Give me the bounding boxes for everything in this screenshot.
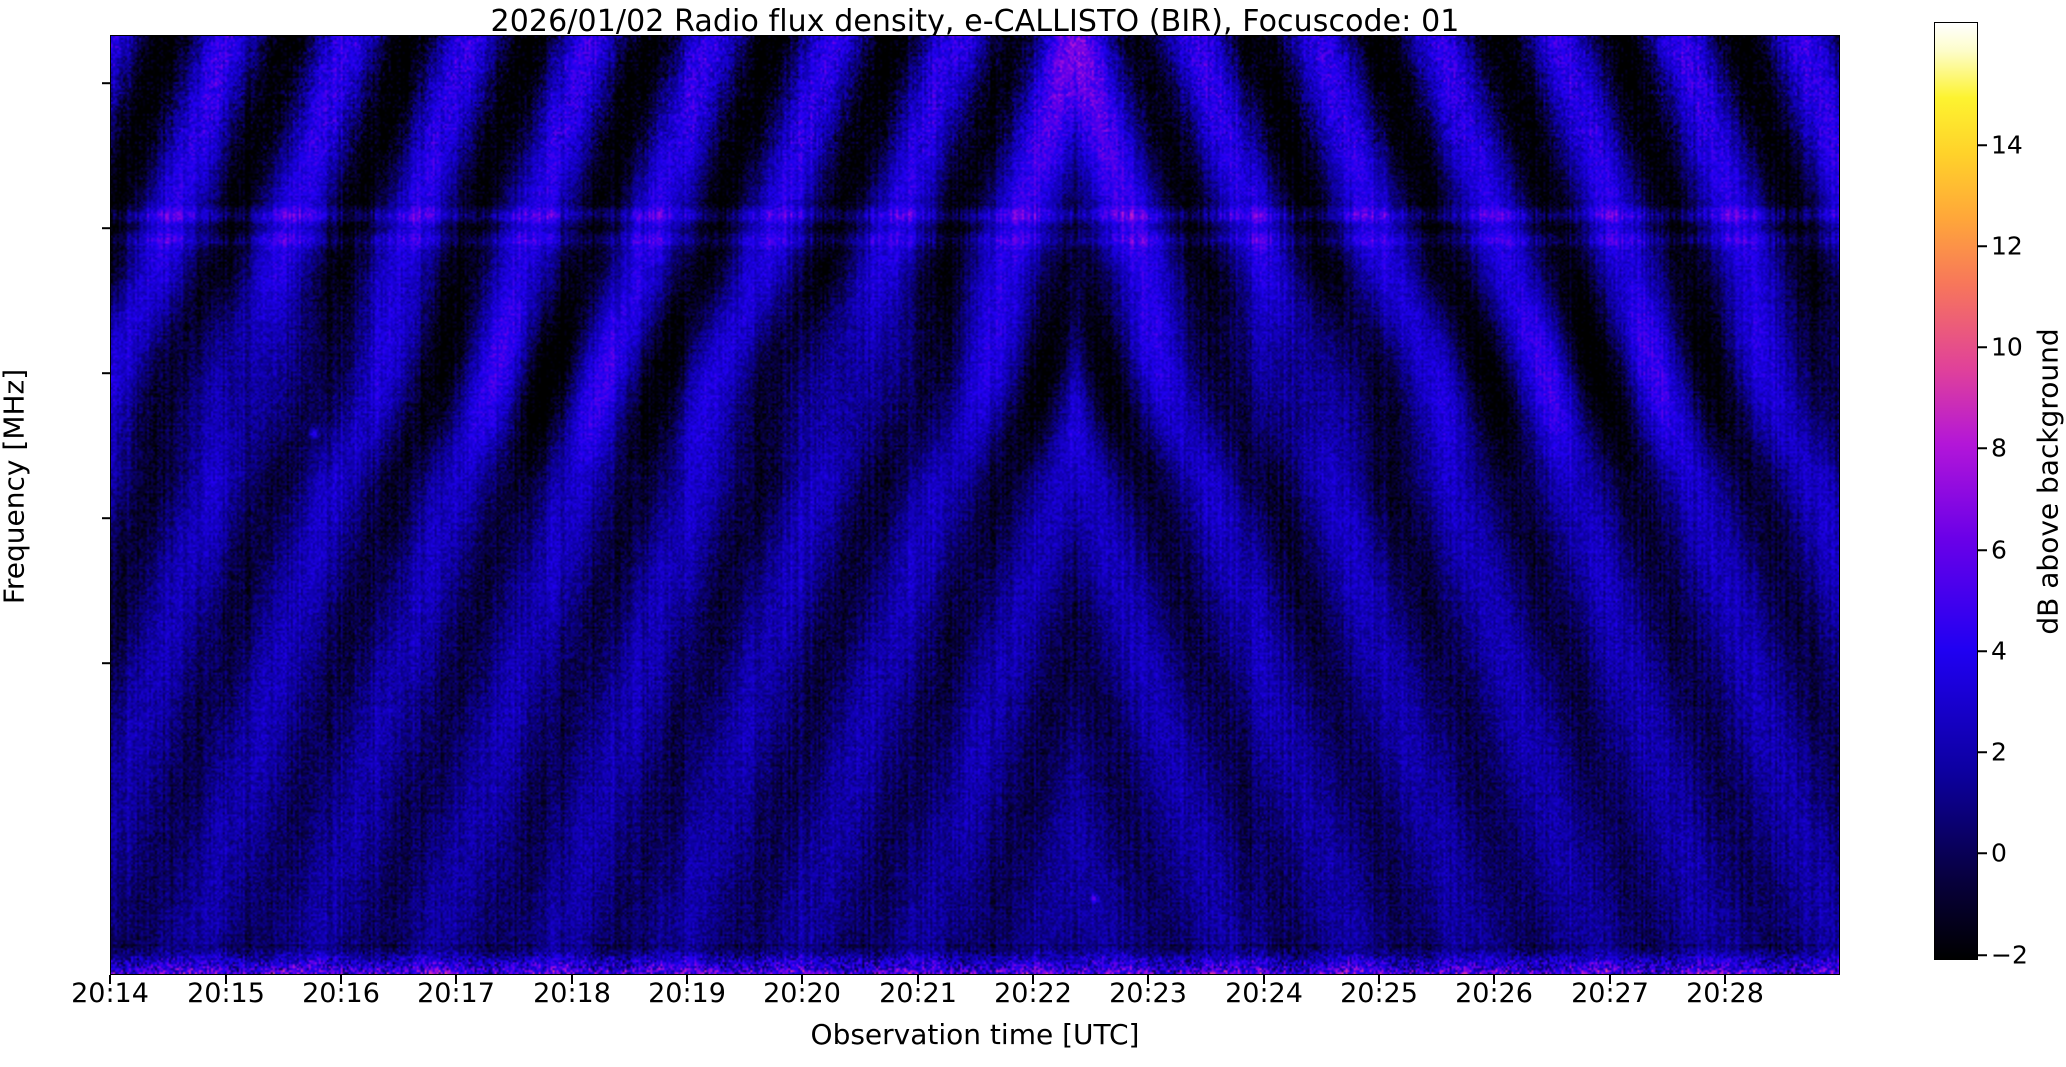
colorbar-tick-mark <box>1978 447 1987 449</box>
colorbar-tick-label: 14 <box>1991 133 2023 158</box>
colorbar-tick-label: 2 <box>1991 740 2007 765</box>
spectrogram-image <box>111 36 1839 974</box>
y-tick-mark <box>102 372 111 374</box>
colorbar-tick-label: 6 <box>1991 538 2007 563</box>
spectrogram-plot-area <box>110 35 1840 975</box>
colorbar-tick-label: 0 <box>1991 841 2007 866</box>
y-tick-mark <box>102 662 111 664</box>
page-title: 2026/01/02 Radio flux density, e-CALLIST… <box>0 4 1950 39</box>
x-tick-label: 20:28 <box>1645 980 1805 1007</box>
colorbar-tick-label: 4 <box>1991 639 2007 664</box>
colorbar-tick-mark <box>1978 245 1987 247</box>
colorbar <box>1934 22 1978 960</box>
colorbar-tick-mark <box>1978 144 1987 146</box>
colorbar-tick-label: 10 <box>1991 335 2023 360</box>
colorbar-tick-mark <box>1978 852 1987 854</box>
colorbar-gradient <box>1935 23 1977 959</box>
y-tick-mark <box>102 517 111 519</box>
colorbar-tick-label: 8 <box>1991 436 2007 461</box>
colorbar-tick-mark <box>1978 751 1987 753</box>
colorbar-tick-mark <box>1978 549 1987 551</box>
colorbar-tick-label: 12 <box>1991 234 2023 259</box>
colorbar-tick-label: −2 <box>1991 943 2028 968</box>
colorbar-tick-mark <box>1978 954 1987 956</box>
colorbar-label: dB above background <box>2032 12 2065 952</box>
y-axis-label: Frequency [MHz] <box>0 17 31 957</box>
y-tick-mark <box>102 227 111 229</box>
colorbar-tick-mark <box>1978 650 1987 652</box>
x-axis-label: Observation time [UTC] <box>110 1018 1840 1051</box>
y-tick-mark <box>102 82 111 84</box>
colorbar-tick-mark <box>1978 346 1987 348</box>
